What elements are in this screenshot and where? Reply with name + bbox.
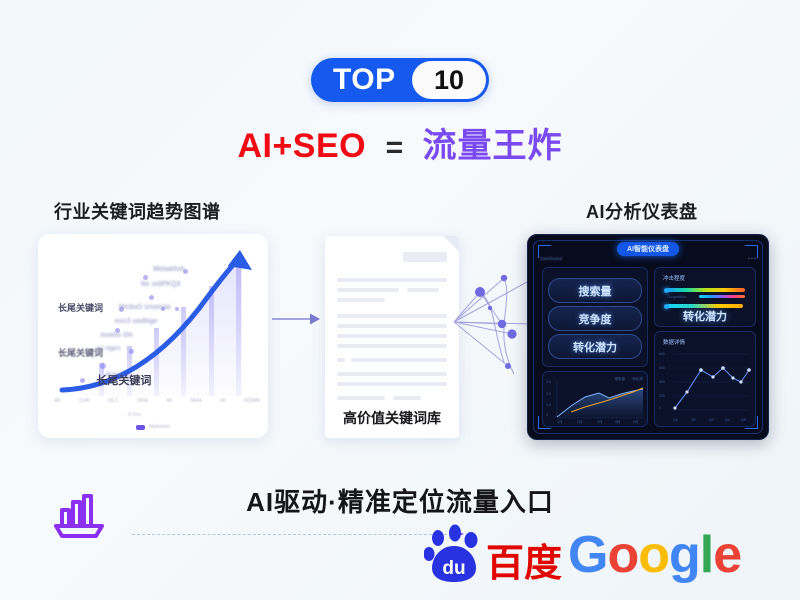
trend-plot-area: Wolabfuh Nc sidFKQ3 Mn3uO snomlai ovc3 u…	[56, 248, 258, 396]
area-chart-panel: 搜索量 转化率 3.0 2.0 1.0 0 1月 2月	[542, 371, 648, 427]
dashboard-title-badge: AI智能仪表盘	[617, 242, 679, 256]
axis-tick: 5644	[190, 398, 201, 410]
axis-tick: 46	[166, 398, 172, 410]
right-section-caption: AI分析仪表盘	[586, 198, 698, 224]
trend-x-axis: 4R 1146 I3LC 1844 46 5644 n9 302MN	[54, 398, 260, 410]
legend-swatch	[136, 425, 145, 430]
gauge-small-label: Competition	[667, 295, 686, 299]
cloud-dot	[80, 378, 85, 383]
title-equals: =	[386, 131, 404, 164]
cloud-label-longtail: 长尾关键词	[58, 301, 103, 314]
document-bullet	[337, 358, 345, 362]
baidu-logo: du 百度	[424, 524, 564, 586]
document-text-line	[337, 314, 447, 318]
cloud-label-blurred: ovc3 uodlige	[115, 318, 158, 325]
area-x-tick: 3月	[597, 420, 602, 425]
google-letter: l	[700, 526, 713, 584]
document-fold-corner-icon	[443, 236, 459, 252]
top-badge-number: 10	[412, 61, 486, 99]
document-text-line	[407, 288, 439, 292]
bottom-divider	[132, 534, 452, 535]
metric-pills-panel: 搜索量 竞争度 转化潜力	[542, 267, 648, 367]
bottom-tagline: AI驱动·精准定位流量入口	[0, 482, 800, 519]
gauge-knob-icon[interactable]	[664, 304, 669, 309]
title-ai-seo: AI+SEO	[237, 127, 366, 165]
cloud-label-blurred: Mn3uO snomlai	[119, 304, 171, 311]
line-x-tick: Q2	[691, 418, 696, 422]
document-text-line	[337, 372, 447, 376]
title-traffic: 流量王炸	[423, 127, 563, 165]
line-x-tick: Q3	[709, 418, 714, 422]
ai-dashboard-card: AI智能仪表盘 Dashboard • • • 搜索量 竞争度 转化潜力 搜索量…	[527, 234, 769, 440]
axis-tick: I3LC	[108, 398, 119, 410]
slide-canvas: TOP 10 AI+SEO = 流量王炸 行业关键词趋势图谱 AI分析仪表盘	[0, 0, 800, 600]
baidu-mark-text: du	[442, 558, 465, 579]
gauge-overlay-label: 转化潜力	[683, 308, 727, 324]
metric-pill-search-volume[interactable]: 搜索量	[548, 278, 642, 303]
keyword-trend-card: Wolabfuh Nc sidFKQ3 Mn3uO snomlai ovc3 u…	[38, 234, 268, 438]
top-badge-word: TOP	[333, 65, 396, 95]
google-letter: e	[713, 526, 741, 584]
area-x-tick: 2月	[577, 420, 582, 425]
document-text-line	[393, 396, 421, 400]
detail-line-panel: 数据详情 800 600 400 200 0	[654, 331, 756, 427]
cloud-dot	[175, 307, 179, 311]
google-letter: o	[638, 526, 669, 584]
document-text-line	[337, 298, 385, 302]
cloud-label-blurred: Wolabfuh	[153, 266, 185, 273]
flow-arrow-right-icon	[272, 312, 320, 326]
area-chart-svg	[543, 372, 647, 426]
cloud-dot	[100, 363, 106, 369]
metric-pill-competition[interactable]: 竞争度	[548, 306, 642, 331]
document-text-line	[337, 324, 447, 328]
dashboard-subtitle: Dashboard	[540, 256, 562, 261]
cloud-dot	[129, 349, 134, 354]
gauge-panel-title: 冲击程度	[663, 274, 685, 282]
top-rank-badge: TOP 10	[311, 58, 489, 102]
gauge-bar	[699, 295, 745, 298]
line-x-tick: Q4	[725, 418, 730, 422]
cloud-dot	[149, 295, 154, 300]
cloud-label-longtail: 长尾关键词	[58, 346, 103, 359]
baidu-wordmark: 百度	[486, 543, 562, 585]
left-section-caption: 行业关键词趋势图谱	[54, 198, 221, 224]
metric-pill-conversion[interactable]: 转化潜力	[548, 334, 642, 359]
keyword-library-document: 高价值关键词库	[325, 236, 459, 438]
document-text-line	[337, 278, 447, 282]
document-text-line	[337, 334, 447, 338]
trend-legend: Matkeiwn	[38, 424, 268, 430]
axis-tick: n9	[220, 398, 226, 410]
axis-tick: 1146	[79, 398, 90, 410]
area-x-tick: 1月	[557, 420, 562, 425]
document-text-line	[337, 344, 447, 348]
gauge-knob-icon[interactable]	[664, 288, 669, 293]
document-text-line	[337, 288, 399, 292]
document-text-line	[351, 358, 447, 362]
document-text-line	[337, 382, 447, 386]
document-text-line	[337, 396, 385, 400]
google-letter: o	[607, 526, 638, 584]
line-x-tick: Q1	[673, 418, 678, 422]
area-x-tick: 5月	[633, 420, 638, 425]
axis-tick: 1844	[137, 398, 148, 410]
area-x-tick: 4月	[615, 420, 620, 425]
cloud-label-blurred: Nc sidFKQ3	[141, 281, 181, 288]
line-x-tick: Q5	[741, 418, 746, 422]
page-title: AI+SEO = 流量王炸	[0, 128, 800, 165]
dashboard-menu-icon[interactable]: • • •	[748, 256, 756, 262]
axis-tick: 302MN	[244, 398, 260, 410]
google-letter: G	[568, 526, 607, 584]
cloud-label-longtail: 长尾关键词	[96, 372, 151, 388]
cloud-label-blurred: euolio Oh	[100, 332, 132, 339]
document-caption: 高价值关键词库	[325, 408, 459, 428]
impact-gauge-panel: 冲击程度 Competition 转化潜力	[654, 267, 756, 327]
line-chart-svg	[655, 332, 755, 426]
document-header-block	[403, 252, 447, 262]
google-logo: Google	[568, 524, 741, 586]
google-letter: g	[669, 526, 700, 584]
trend-axis-sublabel: - EXbu	[38, 412, 228, 418]
keyword-word-cloud: Wolabfuh Nc sidFKQ3 Mn3uO snomlai ovc3 u…	[56, 248, 258, 396]
axis-tick: 4R	[54, 398, 60, 410]
cloud-dot	[143, 275, 148, 280]
legend-label: Matkeiwn	[149, 424, 170, 430]
gauge-bar	[667, 288, 745, 292]
